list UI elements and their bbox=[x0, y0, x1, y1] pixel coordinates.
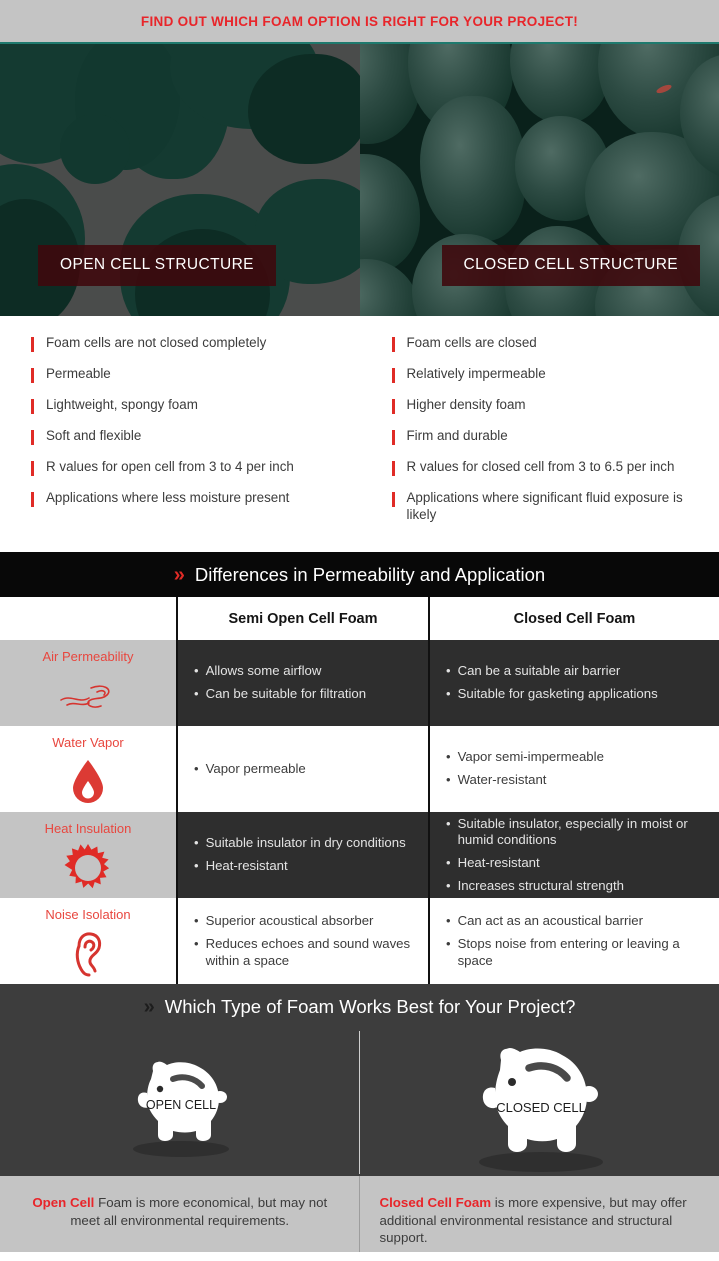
bullet-label: Firm and durable bbox=[407, 427, 508, 444]
list-item: Higher density foam bbox=[392, 396, 698, 414]
list-item: • Suitable insulator in dry conditions bbox=[194, 835, 414, 852]
list-item: Foam cells are closed bbox=[392, 334, 698, 352]
bullet-dot-icon: • bbox=[446, 936, 451, 953]
list-item: Applications where significant fluid exp… bbox=[392, 489, 698, 523]
table-row: Air Permeability • Al bbox=[0, 640, 719, 726]
row-label-text: Air Permeability bbox=[42, 649, 133, 664]
cell-text: Water-resistant bbox=[458, 772, 547, 789]
closed-cell-piggy: CLOSED CELL bbox=[360, 1029, 719, 1176]
table-row: Water Vapor • Vapor permeable bbox=[0, 726, 719, 812]
closed-cell-label: CLOSED CELL STRUCTURE bbox=[442, 245, 701, 286]
banner-headline: FIND OUT WHICH FOAM OPTION IS RIGHT FOR … bbox=[141, 14, 578, 29]
list-item: • Allows some airflow bbox=[194, 663, 414, 680]
bullet-bar-icon bbox=[31, 399, 34, 414]
piggy-caption: CLOSED CELL bbox=[496, 1100, 586, 1115]
piggy-bank-icon: CLOSED CELL bbox=[455, 1030, 623, 1176]
foam-structure-hero: OPEN CELL STRUCTURE CLOSED CELL STRUCTUR… bbox=[0, 44, 719, 316]
table-cell-semi-open: • Vapor permeable bbox=[176, 726, 430, 812]
bullet-dot-icon: • bbox=[446, 913, 451, 930]
open-cell-emphasis: Open Cell bbox=[32, 1195, 94, 1210]
list-item: • Suitable insulator, especially in mois… bbox=[446, 816, 705, 850]
row-label-heat-insulation: Heat Insulation bbox=[0, 812, 176, 898]
list-item: Foam cells are not closed completely bbox=[31, 334, 338, 352]
list-item: Applications where less moisture present bbox=[31, 489, 338, 507]
column-header-label: Closed Cell Foam bbox=[514, 611, 636, 627]
bullet-label: Soft and flexible bbox=[46, 427, 141, 444]
bullet-bar-icon bbox=[31, 368, 34, 383]
bullet-dot-icon: • bbox=[446, 749, 451, 766]
bullet-label: Relatively impermeable bbox=[407, 365, 546, 382]
list-item: • Vapor permeable bbox=[194, 761, 414, 778]
open-cell-footer-rest: Foam is more economical, but may not mee… bbox=[70, 1195, 327, 1228]
bullet-dot-icon: • bbox=[194, 913, 199, 930]
list-item: Permeable bbox=[31, 365, 338, 383]
row-label-water-vapor: Water Vapor bbox=[0, 726, 176, 812]
cell-text: Suitable insulator in dry conditions bbox=[206, 835, 406, 852]
bullet-label: Applications where significant fluid exp… bbox=[407, 489, 698, 523]
row-label-air-permeability: Air Permeability bbox=[0, 640, 176, 726]
table-cell-closed: • Suitable insulator, especially in mois… bbox=[430, 812, 719, 898]
footer-divider bbox=[359, 1176, 360, 1252]
bullet-bar-icon bbox=[31, 461, 34, 476]
open-cell-bullet-column: Foam cells are not closed completely Per… bbox=[0, 334, 360, 536]
bullet-bar-icon bbox=[392, 492, 395, 507]
bullet-dot-icon: • bbox=[446, 878, 451, 895]
double-chevron-right-icon: » bbox=[144, 997, 155, 1017]
list-item: • Increases structural strength bbox=[446, 878, 705, 895]
bottom-section-header: » Which Type of Foam Works Best for Your… bbox=[0, 984, 719, 1029]
foam-cell bbox=[360, 154, 420, 274]
list-item: • Stops noise from entering or leaving a… bbox=[446, 936, 705, 970]
table-row: Heat Insulation • Suitable insulator in … bbox=[0, 812, 719, 898]
table-header-semi-open: Semi Open Cell Foam bbox=[176, 597, 430, 640]
closed-cell-footer: Closed Cell Foam is more expensive, but … bbox=[360, 1176, 719, 1252]
bullet-label: R values for closed cell from 3 to 6.5 p… bbox=[407, 458, 675, 475]
row-label-text: Water Vapor bbox=[52, 735, 124, 750]
closed-cell-bullet-column: Foam cells are closed Relatively imperme… bbox=[360, 334, 719, 536]
cell-text: Suitable insulator, especially in moist … bbox=[458, 816, 705, 850]
double-chevron-right-icon: » bbox=[174, 565, 185, 585]
list-item: R values for open cell from 3 to 4 per i… bbox=[31, 458, 338, 476]
cell-text: Can be suitable for filtration bbox=[206, 686, 367, 703]
bullet-label: Permeable bbox=[46, 365, 111, 382]
piggy-bank-icon: OPEN CELL bbox=[115, 1045, 245, 1160]
bullet-dot-icon: • bbox=[446, 855, 451, 872]
cell-text: Stops noise from entering or leaving a s… bbox=[458, 936, 705, 970]
list-item: Lightweight, spongy foam bbox=[31, 396, 338, 414]
list-item: R values for closed cell from 3 to 6.5 p… bbox=[392, 458, 698, 476]
cell-text: Allows some airflow bbox=[206, 663, 322, 680]
list-item: • Reduces echoes and sound waves within … bbox=[194, 936, 414, 970]
ear-icon bbox=[68, 922, 108, 984]
comparison-bullets: Foam cells are not closed completely Per… bbox=[0, 316, 719, 552]
list-item: Relatively impermeable bbox=[392, 365, 698, 383]
table-cell-semi-open: • Allows some airflow • Can be suitable … bbox=[176, 640, 430, 726]
piggy-caption: OPEN CELL bbox=[146, 1098, 216, 1112]
open-cell-piggy: OPEN CELL bbox=[0, 1029, 360, 1176]
bullet-dot-icon: • bbox=[194, 936, 199, 953]
list-item: • Can be a suitable air barrier bbox=[446, 663, 705, 680]
bullet-bar-icon bbox=[392, 461, 395, 476]
bullet-bar-icon bbox=[392, 399, 395, 414]
table-row: Noise Isolation • Superior acoustica bbox=[0, 898, 719, 984]
list-item: Soft and flexible bbox=[31, 427, 338, 445]
best-foam-section: » Which Type of Foam Works Best for Your… bbox=[0, 984, 719, 1176]
cell-text: Heat-resistant bbox=[458, 855, 540, 872]
table-corner-cell bbox=[0, 597, 176, 640]
list-item: Firm and durable bbox=[392, 427, 698, 445]
sun-burst-icon bbox=[63, 836, 113, 898]
open-cell-label: OPEN CELL STRUCTURE bbox=[38, 245, 276, 286]
cell-text: Superior acoustical absorber bbox=[206, 913, 374, 930]
bullet-bar-icon bbox=[31, 492, 34, 507]
foam-cell bbox=[360, 259, 420, 316]
comparison-table: Semi Open Cell Foam Closed Cell Foam Air… bbox=[0, 597, 719, 984]
bullet-bar-icon bbox=[392, 430, 395, 445]
airflow-swirl-icon bbox=[57, 664, 119, 726]
row-label-text: Heat Insulation bbox=[45, 821, 132, 836]
list-item: • Superior acoustical absorber bbox=[194, 913, 414, 930]
bullet-label: Lightweight, spongy foam bbox=[46, 396, 198, 413]
cell-text: Can act as an acoustical barrier bbox=[458, 913, 643, 930]
bullet-dot-icon: • bbox=[194, 663, 199, 680]
piggy-bank-comparison: OPEN CELL CLOSED CELL bbox=[0, 1029, 719, 1176]
bullet-label: Higher density foam bbox=[407, 396, 526, 413]
bullet-dot-icon: • bbox=[446, 772, 451, 789]
bullet-dot-icon: • bbox=[194, 686, 199, 703]
table-cell-closed: • Can be a suitable air barrier • Suitab… bbox=[430, 640, 719, 726]
list-item: • Suitable for gasketing applications bbox=[446, 686, 705, 703]
foam-blob bbox=[60, 114, 130, 184]
footer-summary: Open Cell Foam is more economical, but m… bbox=[0, 1176, 719, 1252]
list-item: • Can act as an acoustical barrier bbox=[446, 913, 705, 930]
bullet-dot-icon: • bbox=[194, 761, 199, 778]
bullet-label: Applications where less moisture present bbox=[46, 489, 289, 506]
bullet-label: Foam cells are not closed completely bbox=[46, 334, 266, 351]
bullet-label: R values for open cell from 3 to 4 per i… bbox=[46, 458, 294, 475]
table-cell-semi-open: • Suitable insulator in dry conditions •… bbox=[176, 812, 430, 898]
open-cell-image: OPEN CELL STRUCTURE bbox=[0, 44, 360, 316]
table-section-header: » Differences in Permeability and Applic… bbox=[0, 552, 719, 597]
table-cell-closed: • Can act as an acoustical barrier • Sto… bbox=[430, 898, 719, 984]
table-header-row: Semi Open Cell Foam Closed Cell Foam bbox=[0, 597, 719, 640]
closed-cell-footer-text: Closed Cell Foam is more expensive, but … bbox=[380, 1194, 692, 1247]
bullet-bar-icon bbox=[31, 337, 34, 352]
table-header-closed: Closed Cell Foam bbox=[430, 597, 719, 640]
table-section-title: Differences in Permeability and Applicat… bbox=[195, 564, 545, 586]
bullet-label: Foam cells are closed bbox=[407, 334, 537, 351]
closed-cell-image: CLOSED CELL STRUCTURE bbox=[360, 44, 719, 316]
top-banner: FIND OUT WHICH FOAM OPTION IS RIGHT FOR … bbox=[0, 0, 719, 44]
bullet-bar-icon bbox=[392, 368, 395, 383]
cell-text: Can be a suitable air barrier bbox=[458, 663, 621, 680]
cell-text: Heat-resistant bbox=[206, 858, 288, 875]
cell-text: Increases structural strength bbox=[458, 878, 624, 895]
closed-cell-emphasis: Closed Cell Foam bbox=[380, 1195, 492, 1210]
open-cell-footer: Open Cell Foam is more economical, but m… bbox=[0, 1176, 360, 1252]
cell-text: Suitable for gasketing applications bbox=[458, 686, 658, 703]
bullet-dot-icon: • bbox=[446, 663, 451, 680]
foam-cell bbox=[420, 96, 525, 241]
cell-text: Reduces echoes and sound waves within a … bbox=[206, 936, 414, 970]
open-cell-footer-text: Open Cell Foam is more economical, but m… bbox=[28, 1194, 332, 1229]
table-cell-semi-open: • Superior acoustical absorber • Reduces… bbox=[176, 898, 430, 984]
cell-text: Vapor semi-impermeable bbox=[458, 749, 604, 766]
column-header-label: Semi Open Cell Foam bbox=[228, 611, 377, 627]
row-label-noise-isolation: Noise Isolation bbox=[0, 898, 176, 984]
bullet-dot-icon: • bbox=[446, 816, 451, 833]
list-item: • Heat-resistant bbox=[194, 858, 414, 875]
bullet-dot-icon: • bbox=[194, 835, 199, 852]
water-drop-icon bbox=[65, 750, 111, 812]
bottom-section-title: Which Type of Foam Works Best for Your P… bbox=[165, 996, 576, 1018]
row-label-text: Noise Isolation bbox=[45, 907, 130, 922]
list-item: • Vapor semi-impermeable bbox=[446, 749, 705, 766]
list-item: • Water-resistant bbox=[446, 772, 705, 789]
foam-cell bbox=[510, 44, 610, 124]
table-cell-closed: • Vapor semi-impermeable • Water-resista… bbox=[430, 726, 719, 812]
bullet-bar-icon bbox=[31, 430, 34, 445]
cell-text: Vapor permeable bbox=[206, 761, 306, 778]
bullet-bar-icon bbox=[392, 337, 395, 352]
list-item: • Heat-resistant bbox=[446, 855, 705, 872]
list-item: • Can be suitable for filtration bbox=[194, 686, 414, 703]
bullet-dot-icon: • bbox=[194, 858, 199, 875]
bullet-dot-icon: • bbox=[446, 686, 451, 703]
